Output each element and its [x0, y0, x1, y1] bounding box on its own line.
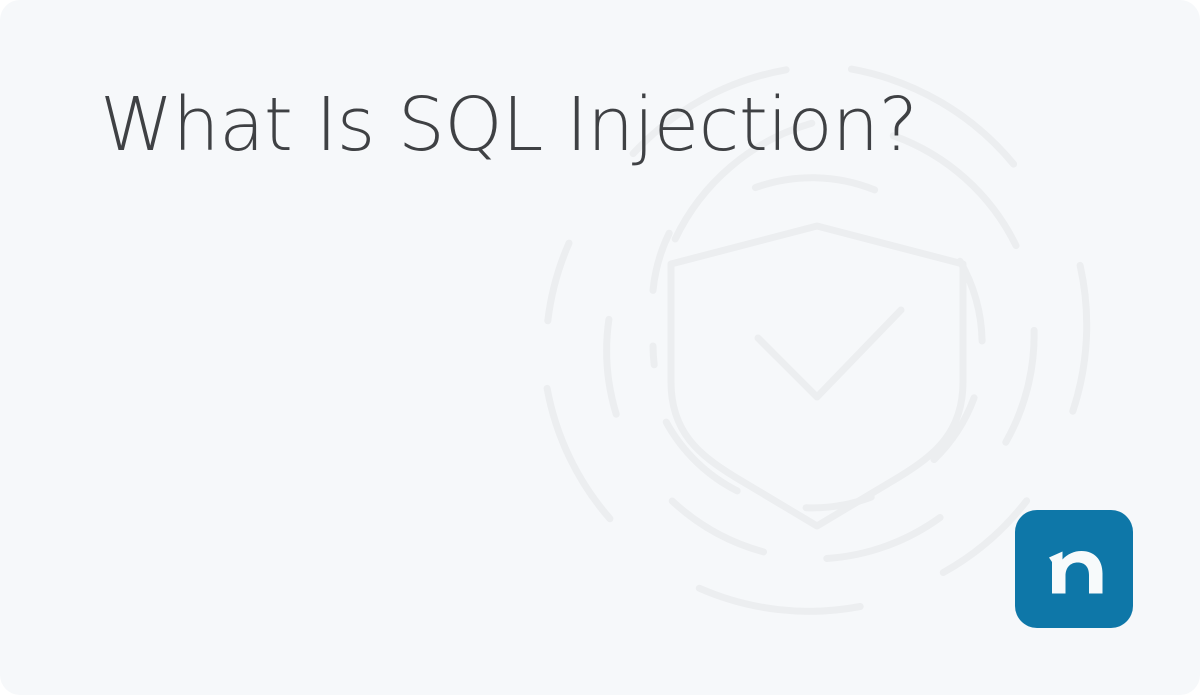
chevron-check-icon	[758, 310, 901, 397]
ninjaone-logo-glyph-n	[1015, 510, 1133, 628]
ninjaone-logo[interactable]	[1015, 510, 1133, 628]
middle-dashed-ring	[607, 123, 1034, 558]
content-card: What Is SQL Injection?	[0, 0, 1200, 695]
inner-dashed-ring	[653, 178, 982, 508]
page-title: What Is SQL Injection?	[100, 88, 1000, 162]
shield-outline	[671, 226, 963, 526]
